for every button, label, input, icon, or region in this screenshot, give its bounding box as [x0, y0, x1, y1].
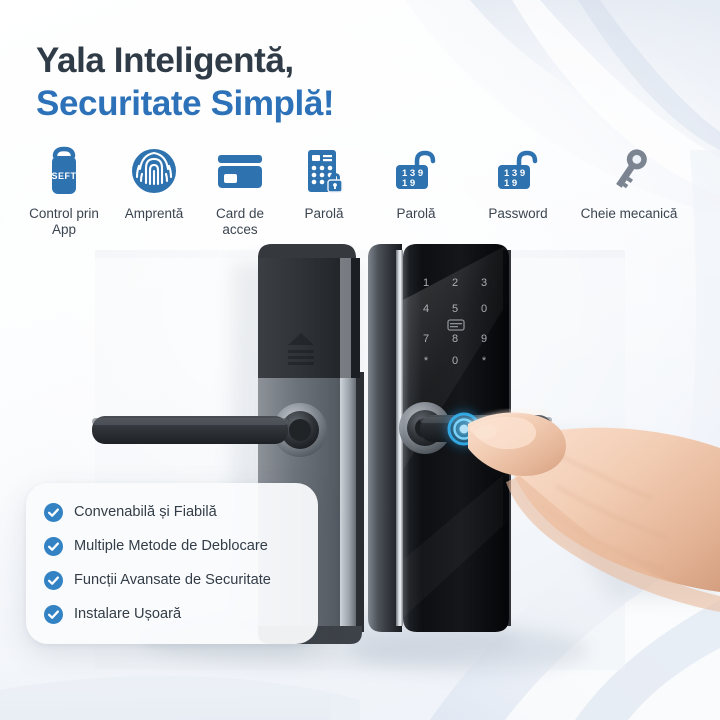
feature-fingerprint: Amprentă	[110, 142, 198, 222]
feature-password-ro: 1 3 9 1 9 Parolă	[366, 142, 466, 222]
feature-label: Cheie mecanică	[581, 206, 678, 222]
feature-access-card: Card de acces	[198, 142, 282, 239]
benefit-text: Convenabilă și Fiabilă	[74, 504, 217, 521]
feature-label: Parolă	[396, 206, 435, 222]
padlock-digits-icon: 1 3 9 1 9	[490, 142, 546, 200]
feature-label: Password	[488, 206, 547, 222]
list-item: Funcții Avansate de Securitate	[44, 571, 302, 590]
padlock-digits-bottom: 1 9	[402, 178, 415, 189]
headline-line-2: Securitate Simplă!	[36, 83, 466, 126]
check-icon	[44, 605, 63, 624]
fingerprint-icon	[129, 142, 179, 200]
feature-label: Control prin App	[18, 206, 110, 239]
feature-label: Parolă	[304, 206, 343, 222]
promo-banner: 123 450 789 *0*	[0, 0, 720, 720]
benefit-text: Multiple Metode de Deblocare	[74, 538, 268, 555]
headline-block: Yala Inteligentă, Securitate Simplă!	[36, 40, 466, 125]
check-icon	[44, 537, 63, 556]
headline-line-1: Yala Inteligentă,	[36, 40, 466, 83]
feature-icon-row: SEFT Control prin App	[18, 142, 708, 239]
keypad-lock-icon	[300, 142, 348, 200]
check-icon	[44, 503, 63, 522]
feature-app-control: SEFT Control prin App	[18, 142, 110, 239]
app-phone-icon: SEFT	[41, 142, 87, 200]
list-item: Multiple Metode de Deblocare	[44, 537, 302, 556]
feature-label: Amprentă	[125, 206, 184, 222]
feature-mechanical-key: Cheie mecanică	[570, 142, 688, 222]
feature-password-keypad: Parolă	[282, 142, 366, 222]
feature-label: Card de acces	[198, 206, 282, 239]
benefits-card: Convenabilă și Fiabilă Multiple Metode d…	[26, 483, 318, 644]
benefit-text: Funcții Avansate de Securitate	[74, 572, 271, 589]
padlock-digits-bottom: 1 9	[504, 178, 517, 189]
padlock-digits-icon: 1 3 9 1 9	[388, 142, 444, 200]
mechanical-key-icon	[602, 142, 656, 200]
svg-text:SEFT: SEFT	[51, 171, 76, 181]
access-card-icon	[213, 142, 267, 200]
check-icon	[44, 571, 63, 590]
list-item: Instalare Ușoară	[44, 605, 302, 624]
feature-password-en: 1 3 9 1 9 Password	[466, 142, 570, 222]
list-item: Convenabilă și Fiabilă	[44, 503, 302, 522]
benefit-text: Instalare Ușoară	[74, 606, 181, 623]
